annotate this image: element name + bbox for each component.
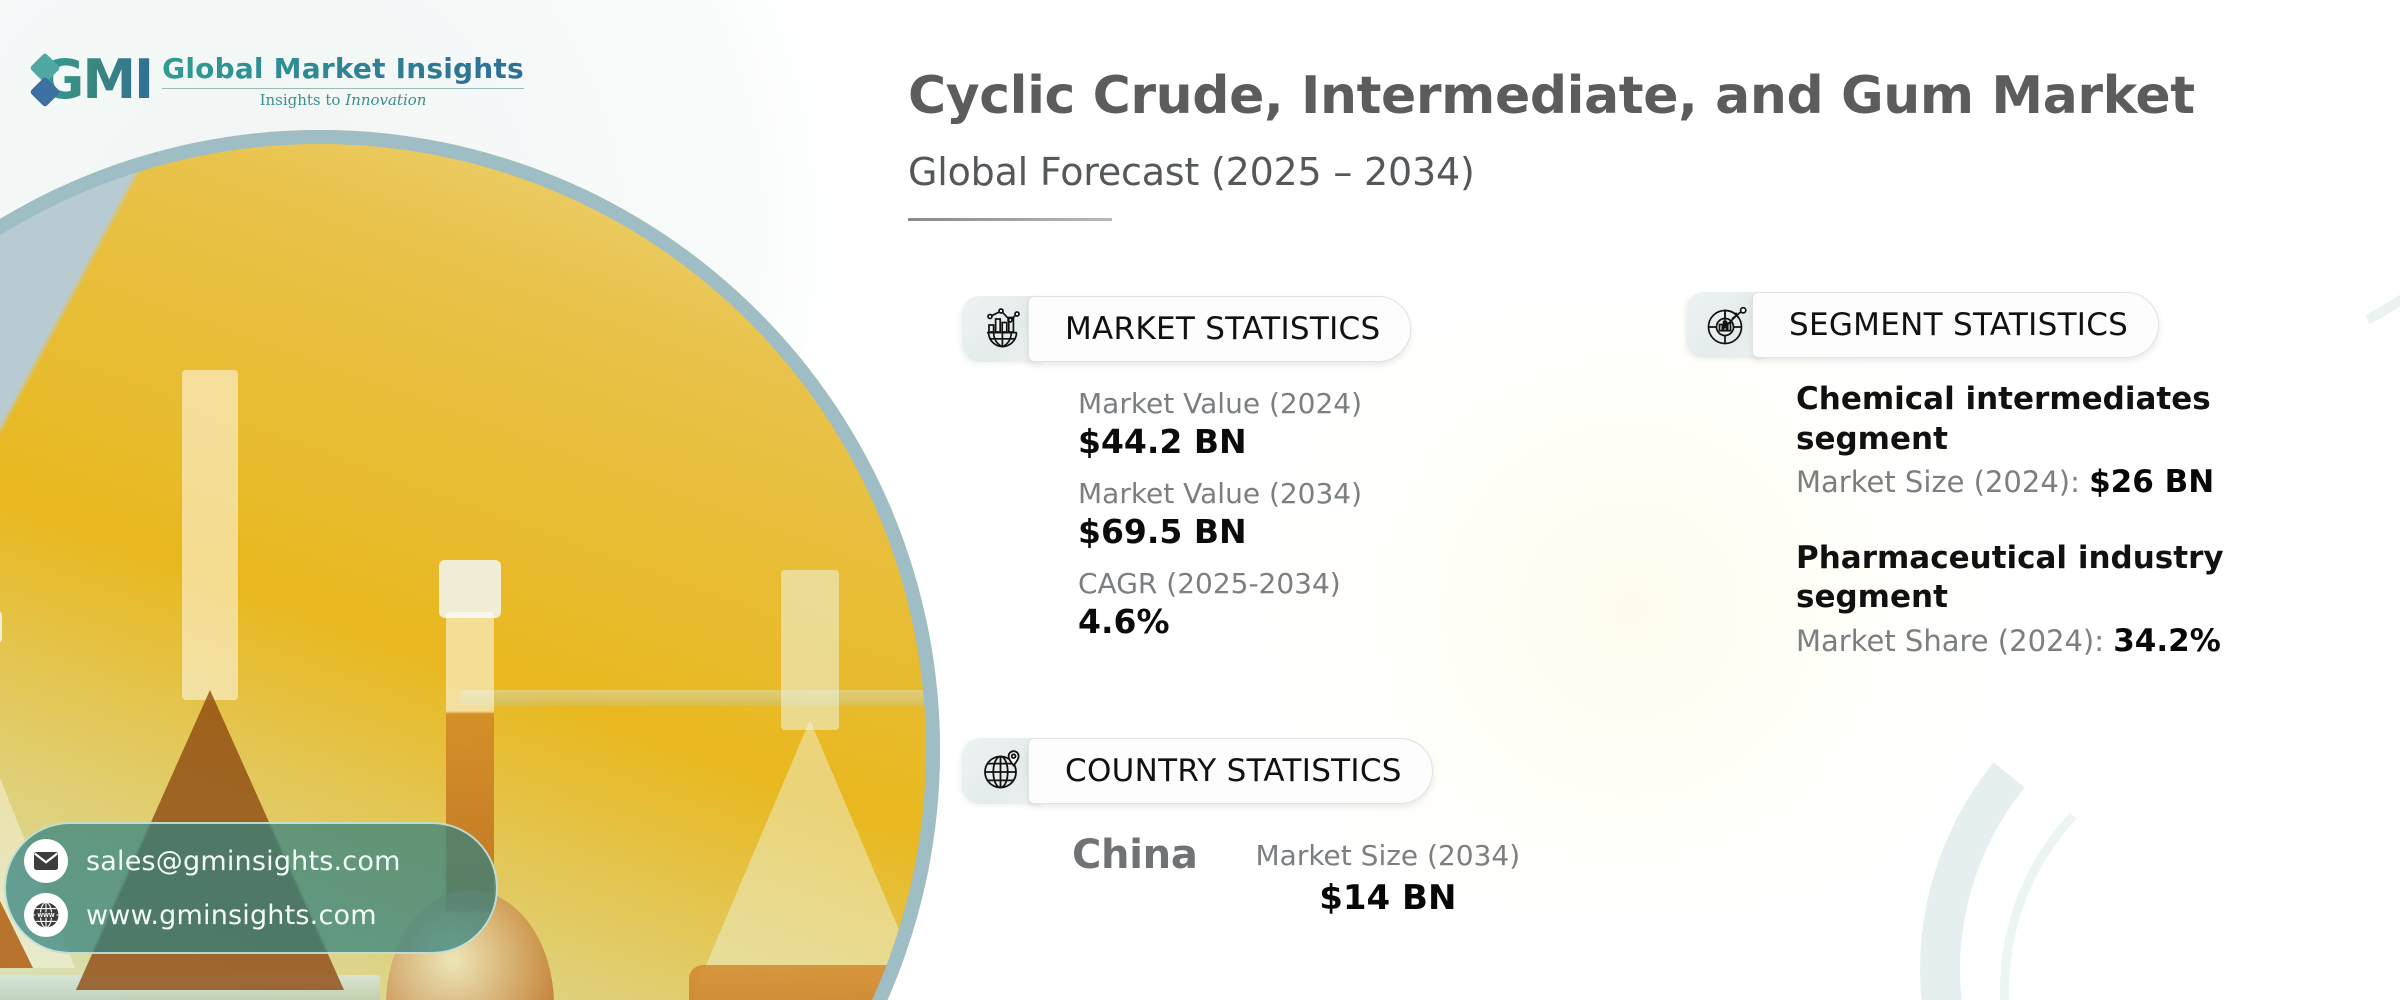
segment-2-name: Pharmaceutical industry segment: [1796, 539, 2236, 618]
contact-website: www.gminsights.com: [86, 900, 377, 931]
logo-tagline-italic: Innovation: [345, 91, 426, 109]
envelope-icon: [24, 839, 68, 883]
market-statistics-title: MARKET STATISTICS: [1028, 296, 1411, 362]
svg-text:WWW: WWW: [37, 913, 54, 919]
www-globe-icon: WWW: [24, 893, 68, 937]
segment-1-metric: Market Size (2024): $26 BN: [1796, 461, 2306, 504]
contact-email: sales@gminsights.com: [86, 846, 401, 877]
market-statistics-body: Market Value (2024) $44.2 BN Market Valu…: [962, 386, 1582, 642]
country-statistics-panel: COUNTRY STATISTICS China Market Size (20…: [962, 738, 1662, 918]
gmi-logo[interactable]: GMI Global Market Insights Insights to I…: [30, 42, 450, 118]
country-statistics-title: COUNTRY STATISTICS: [1028, 738, 1433, 804]
segment-statistics-header: SEGMENT STATISTICS: [1686, 292, 2306, 358]
country-statistics-header: COUNTRY STATISTICS: [962, 738, 1662, 804]
segment-2-metric: Market Share (2024): 34.2%: [1796, 620, 2306, 663]
logo-mark-text: GMI: [40, 53, 152, 107]
market-statistics-header: MARKET STATISTICS: [962, 296, 1582, 362]
segment-statistics-body: Chemical intermediates segment Market Si…: [1686, 380, 2306, 663]
cagr-value: 4.6%: [1078, 602, 1582, 642]
country-metric-label: Market Size (2034): [1256, 838, 1521, 874]
market-value-2034-value: $69.5 BN: [1078, 512, 1582, 552]
segment-1-name: Chemical intermediates segment: [1796, 380, 2236, 459]
country-metric-value: $14 BN: [1256, 878, 1521, 918]
logo-tagline-prefix: Insights to: [260, 91, 346, 109]
market-statistics-panel: MARKET STATISTICS Market Value (2024) $4…: [962, 296, 1582, 656]
contact-email-row[interactable]: sales@gminsights.com: [24, 839, 478, 883]
flask-erlenmeyer-right: [660, 570, 940, 1000]
country-name: China: [1072, 832, 1198, 878]
headline-block: Cyclic Crude, Intermediate, and Gum Mark…: [908, 68, 2248, 221]
logo-company-name: Global Market Insights: [162, 52, 524, 85]
segment-1-metric-label: Market Size (2024):: [1796, 465, 2089, 499]
logo-divider: [162, 88, 524, 89]
country-metric: Market Size (2034) $14 BN: [1256, 832, 1521, 918]
segment-2-metric-value: 34.2%: [2113, 623, 2221, 659]
contact-website-row[interactable]: WWW www.gminsights.com: [24, 893, 478, 937]
segment-statistics-panel: SEGMENT STATISTICS Chemical intermediate…: [1686, 292, 2306, 663]
cagr-label: CAGR (2025-2034): [1078, 566, 1582, 602]
segment-statistics-title: SEGMENT STATISTICS: [1752, 292, 2159, 358]
logo-tagline: Insights to Innovation: [162, 91, 524, 109]
segment-1-metric-value: $26 BN: [2089, 464, 2214, 500]
infographic-root: GMI Global Market Insights Insights to I…: [0, 0, 2400, 1000]
market-value-2034-label: Market Value (2034): [1078, 476, 1582, 512]
market-value-2024-label: Market Value (2024): [1078, 386, 1582, 422]
market-value-2024-value: $44.2 BN: [1078, 422, 1582, 462]
contact-bar: sales@gminsights.com WWW www.gminsights.…: [4, 822, 498, 954]
country-statistics-body: China Market Size (2034) $14 BN: [962, 832, 1662, 918]
segment-2-metric-label: Market Share (2024):: [1796, 624, 2113, 658]
page-title: Cyclic Crude, Intermediate, and Gum Mark…: [908, 68, 2248, 124]
page-subtitle: Global Forecast (2025 – 2034): [908, 150, 2248, 194]
headline-underline: [908, 218, 1112, 221]
